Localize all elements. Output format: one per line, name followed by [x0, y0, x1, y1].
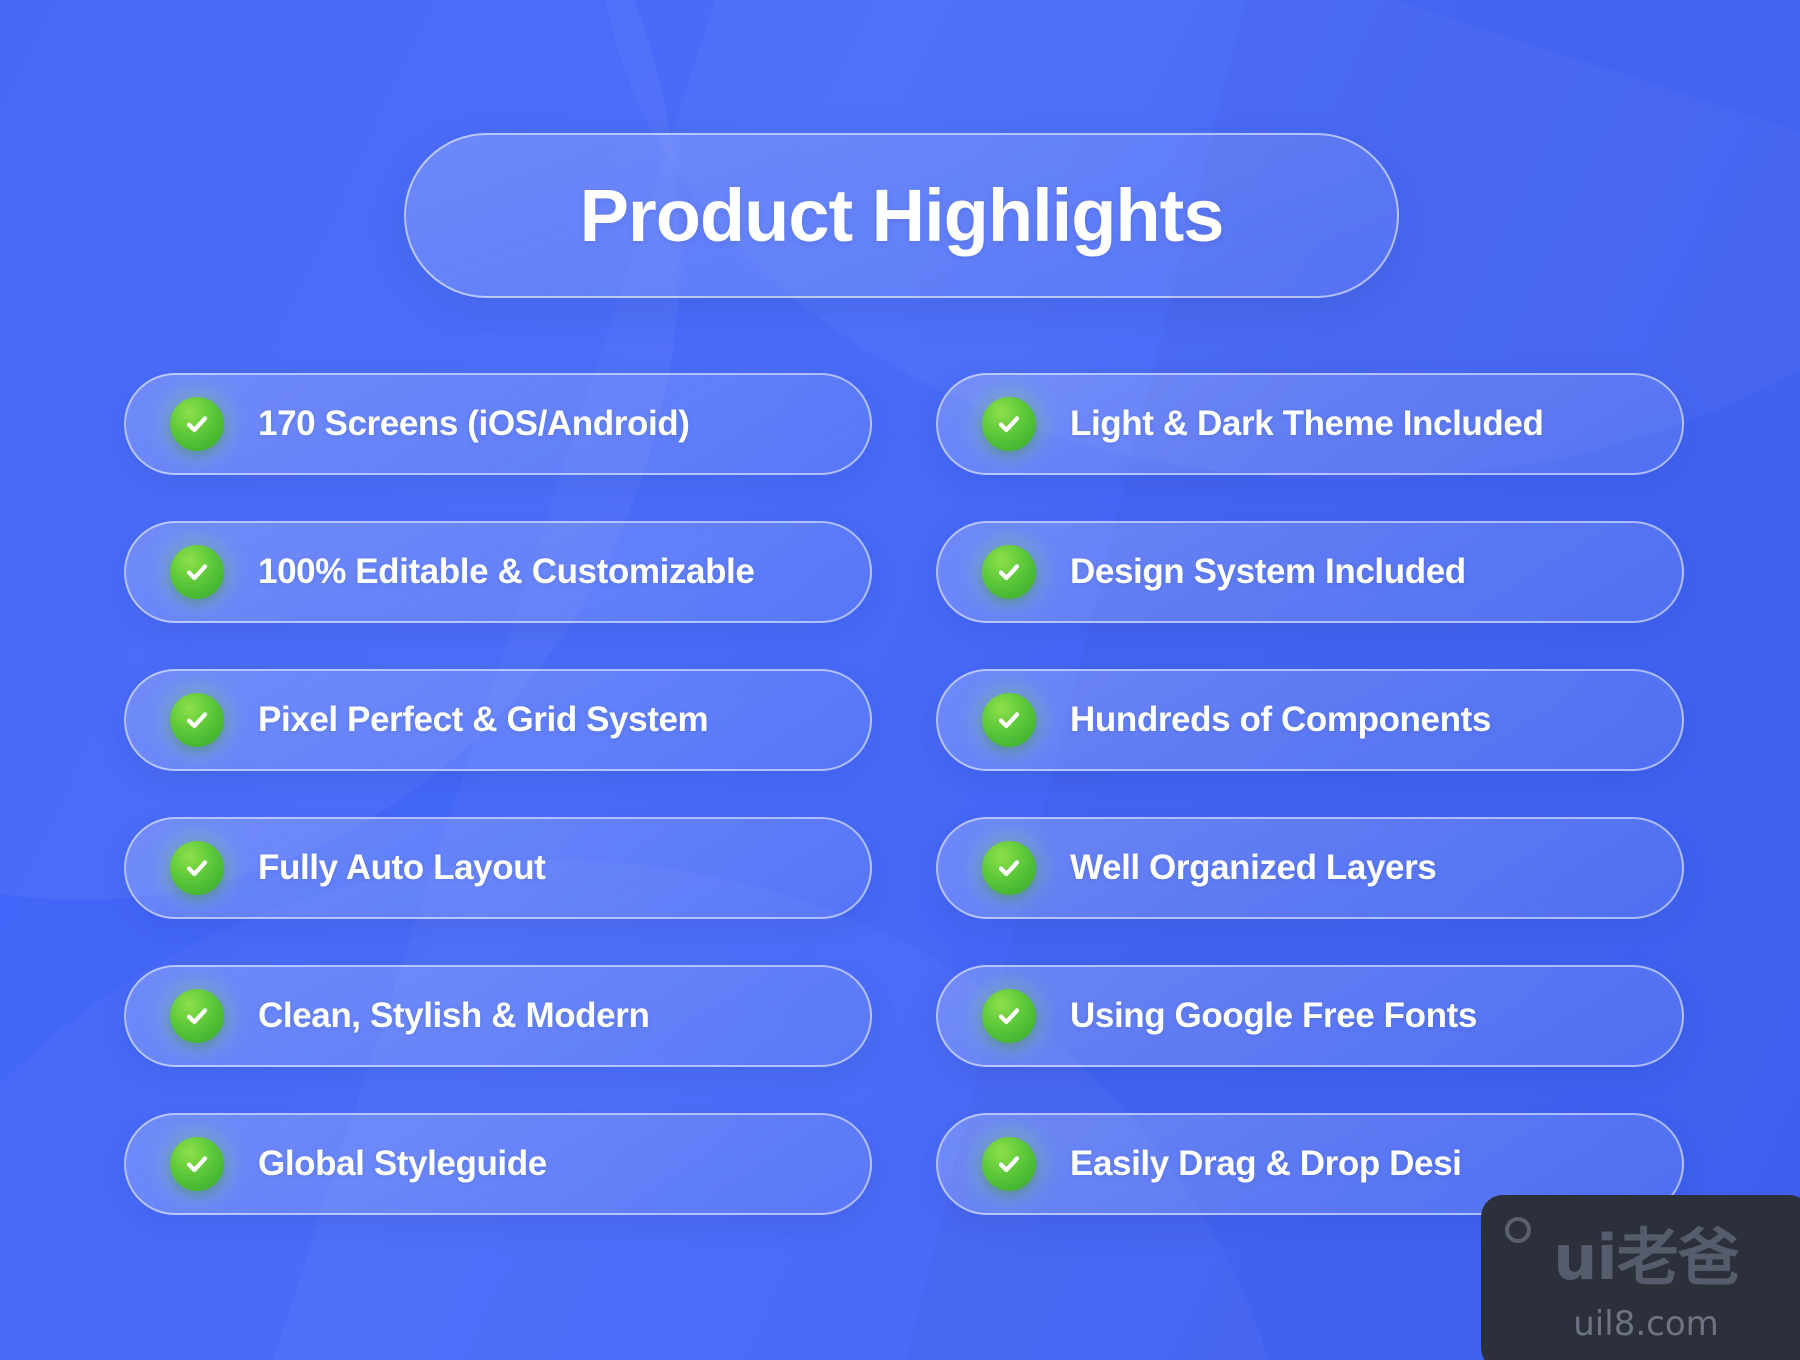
feature-label: Design System Included — [1070, 552, 1466, 592]
feature-label: Using Google Free Fonts — [1070, 996, 1477, 1036]
feature-item[interactable]: Light & Dark Theme Included — [936, 373, 1684, 475]
feature-label: 170 Screens (iOS/Android) — [258, 404, 690, 444]
page-title: Product Highlights — [580, 179, 1224, 253]
check-circle-icon — [170, 1137, 224, 1191]
feature-label: Pixel Perfect & Grid System — [258, 700, 708, 740]
feature-item[interactable]: Using Google Free Fonts — [936, 965, 1684, 1067]
check-circle-icon — [982, 693, 1036, 747]
feature-label: Light & Dark Theme Included — [1070, 404, 1543, 444]
feature-item[interactable]: 170 Screens (iOS/Android) — [124, 373, 872, 475]
feature-label: Well Organized Layers — [1070, 848, 1436, 888]
feature-item[interactable]: Clean, Stylish & Modern — [124, 965, 872, 1067]
feature-item[interactable]: Pixel Perfect & Grid System — [124, 669, 872, 771]
feature-label: Fully Auto Layout — [258, 848, 545, 888]
check-circle-icon — [170, 693, 224, 747]
feature-label: Clean, Stylish & Modern — [258, 996, 649, 1036]
check-circle-icon — [982, 545, 1036, 599]
check-circle-icon — [982, 397, 1036, 451]
feature-item[interactable]: Well Organized Layers — [936, 817, 1684, 919]
page-content: Product Highlights 170 Screens (iOS/Andr… — [0, 0, 1800, 1360]
feature-label: Easily Drag & Drop Desi — [1070, 1144, 1462, 1184]
watermark-url: uil8.com — [1481, 1307, 1800, 1341]
check-circle-icon — [170, 397, 224, 451]
feature-label: Global Styleguide — [258, 1144, 547, 1184]
feature-label: Hundreds of Components — [1070, 700, 1491, 740]
check-circle-icon — [170, 545, 224, 599]
feature-item[interactable]: Global Styleguide — [124, 1113, 872, 1215]
check-circle-icon — [982, 841, 1036, 895]
title-banner: Product Highlights — [404, 133, 1399, 298]
watermark-badge: ui老爸 uil8.com — [1481, 1195, 1800, 1360]
check-circle-icon — [982, 1137, 1036, 1191]
feature-item[interactable]: 100% Editable & Customizable — [124, 521, 872, 623]
watermark-brand: ui老爸 — [1481, 1227, 1800, 1289]
check-circle-icon — [170, 989, 224, 1043]
check-circle-icon — [982, 989, 1036, 1043]
feature-label: 100% Editable & Customizable — [258, 552, 754, 592]
feature-item[interactable]: Design System Included — [936, 521, 1684, 623]
feature-item[interactable]: Fully Auto Layout — [124, 817, 872, 919]
check-circle-icon — [170, 841, 224, 895]
feature-item[interactable]: Hundreds of Components — [936, 669, 1684, 771]
feature-list: 170 Screens (iOS/Android) Light & Dark T… — [124, 373, 1684, 1215]
